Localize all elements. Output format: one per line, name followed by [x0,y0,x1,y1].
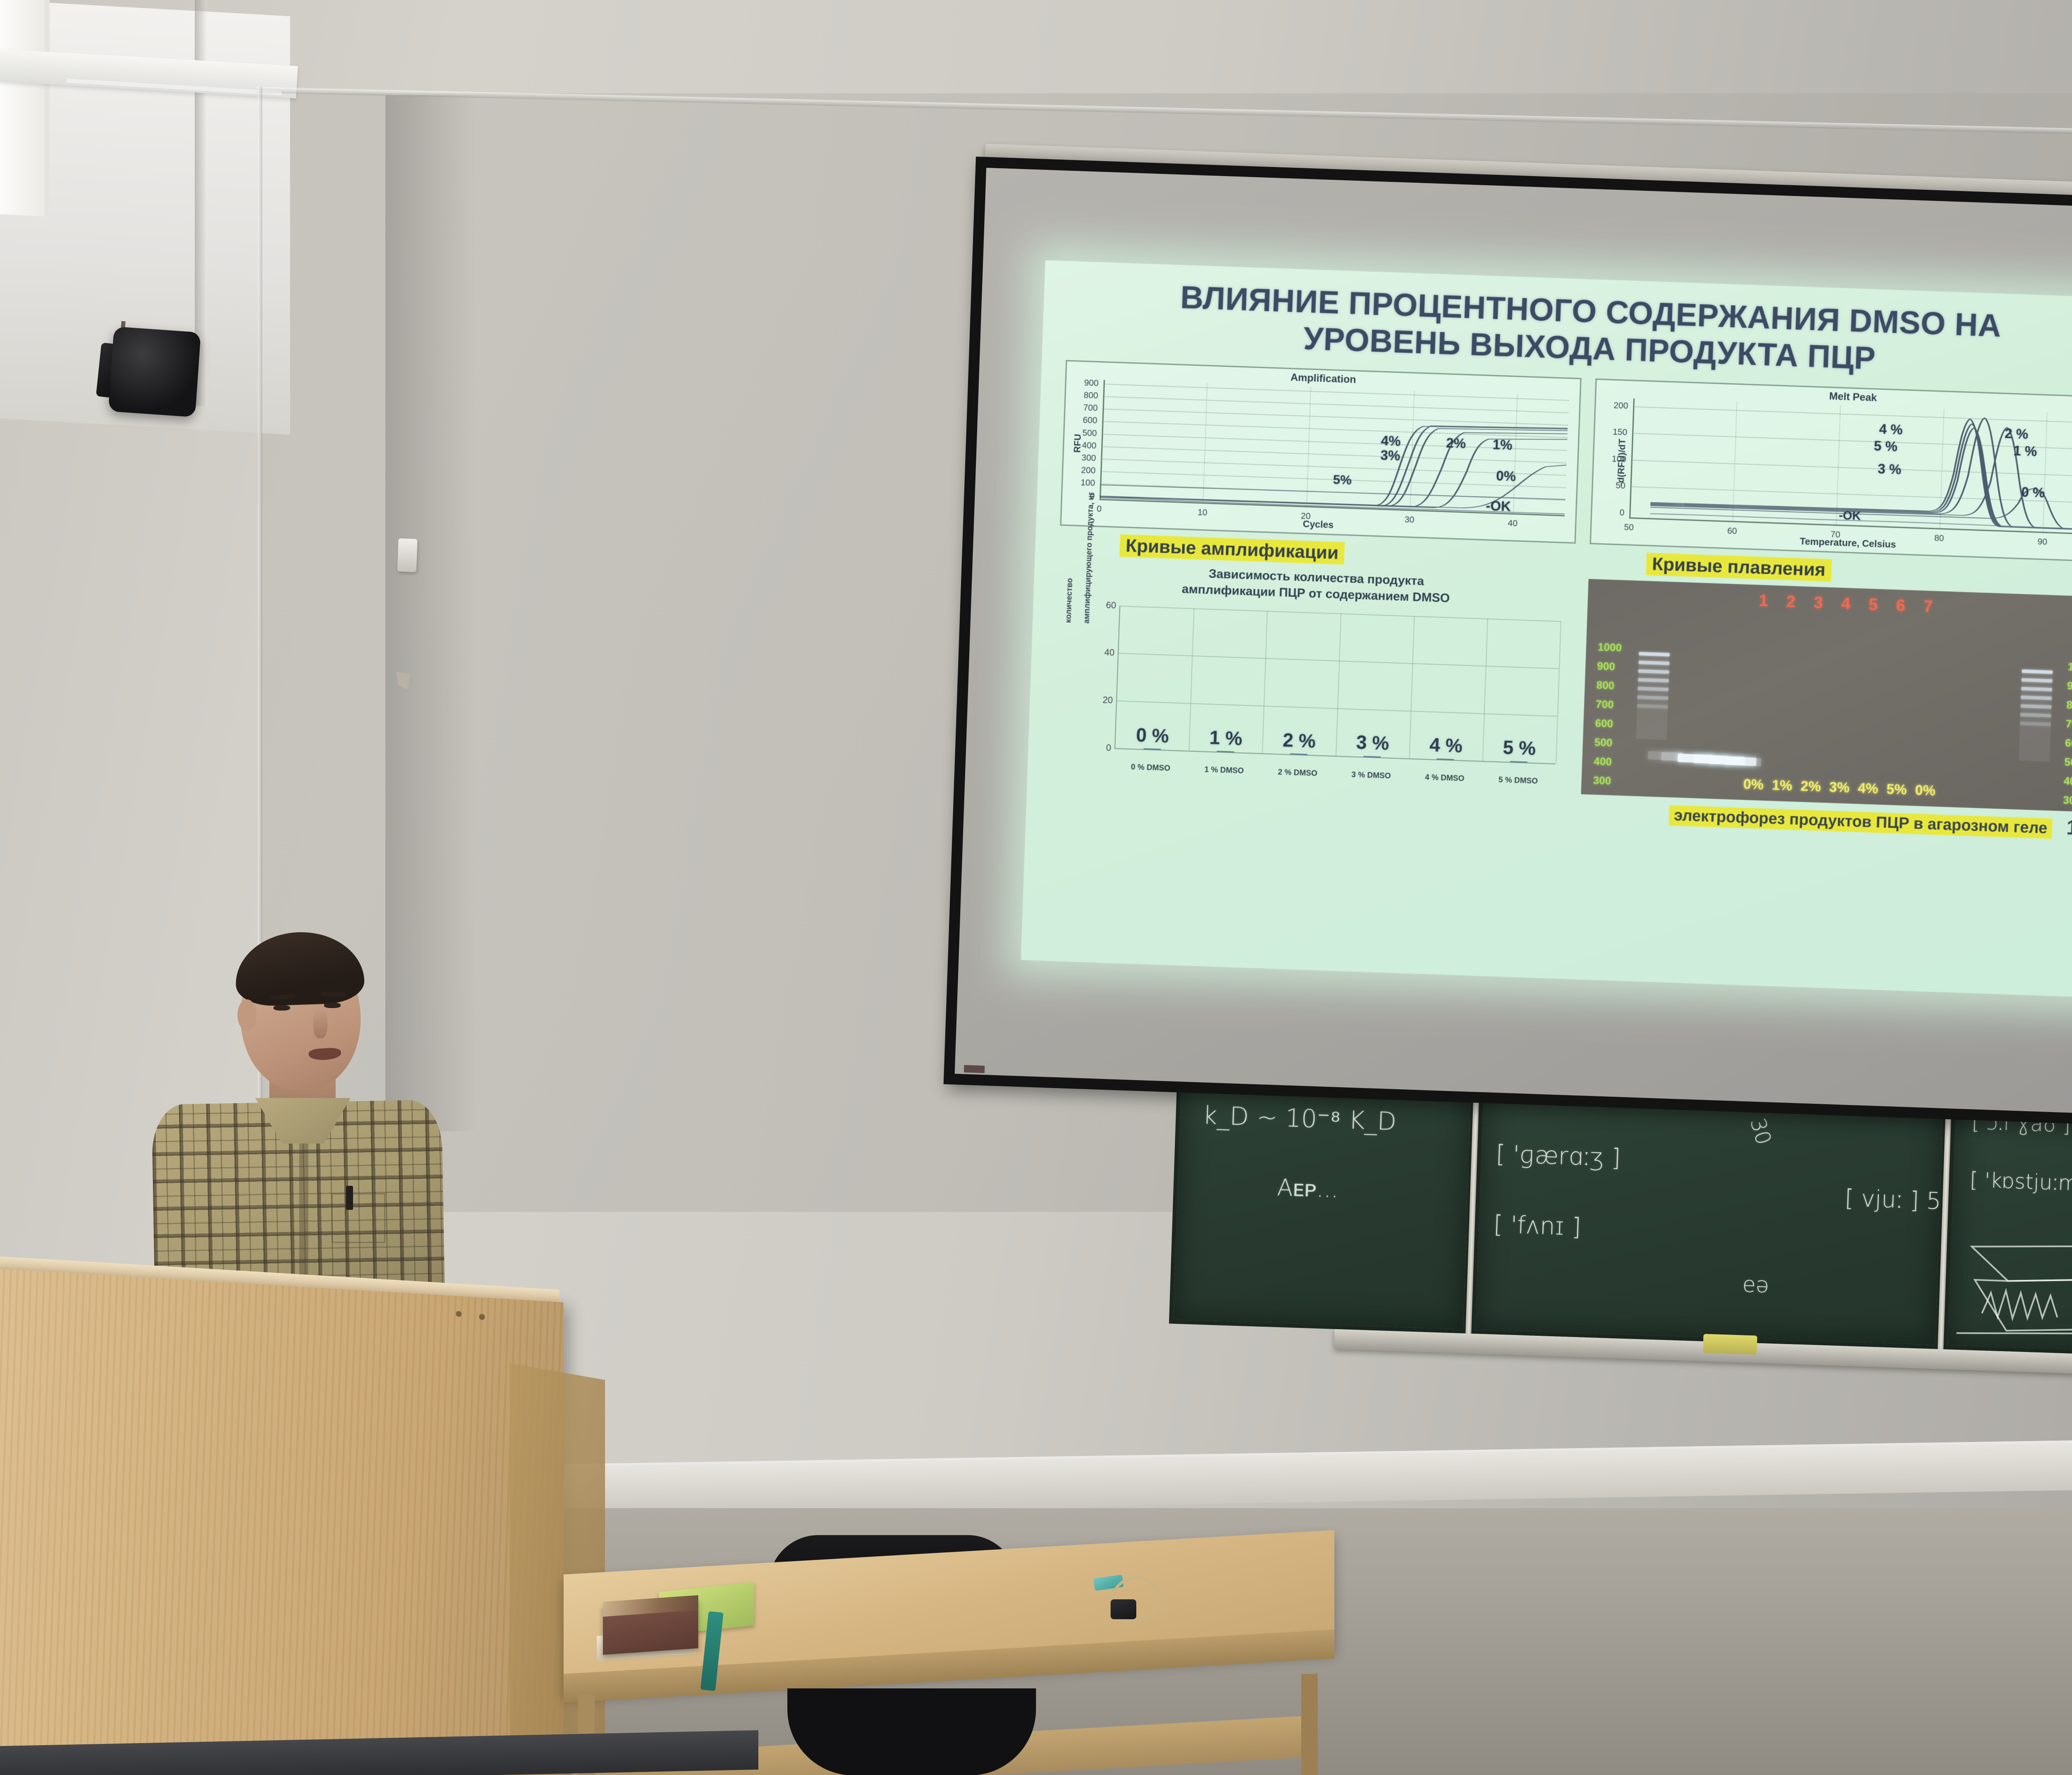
gel-lane-label: 0% [1743,776,1764,793]
projection-screen: ВЛИЯНИЕ ПРОЦЕНТНОГО СОДЕРЖАНИЯ DMSO НА У… [944,157,2072,1128]
bar-value-label: 2 % [1283,728,1316,752]
bar-category-label: 4 % DMSO [1408,772,1481,784]
bar-y-tick: 40 [1104,647,1114,658]
bar-slot: 5 % [1482,760,1556,763]
bar-y-tick: 60 [1106,600,1116,611]
curve-annotation: 4% [1381,433,1401,450]
bar-plot-area: 60 40 20 0 [1114,605,1560,764]
y-tick: 600 [1082,416,1097,426]
gel-lane-number: 1 [1759,591,1769,610]
curve-annotation: 0% [1496,468,1516,485]
front-table-leg [1301,1674,1318,1775]
presenter-eye [274,1005,290,1011]
gel-lane-number: 5 [1868,595,1878,614]
melt-annotation: 5 % [1874,438,1898,455]
ladder-value: 800 [2066,699,2072,711]
table-row [1510,761,1527,762]
y-tick: 50 [1615,481,1625,491]
melt-annotation: 4 % [1879,421,1903,438]
melt-peak-plot-area: 200 150 100 50 0 50 60 70 80 90 [1629,398,2072,534]
curve-annotation: -OK [1486,498,1511,514]
y-tick: 200 [1613,401,1628,411]
lecture-room-scene: Kᴅ ~ 10⁻¹⁰ k_D ~ 10⁻⁸ K_D Aᴇᴘ... [ 'ɑːtɪ… [0,0,2072,1775]
bar-slot: 0 % [1115,747,1188,750]
presenter-eye [324,1003,341,1008]
chalk-line: [ vjuː ] 5' [1844,1184,1948,1215]
melt-annotation-nok: -OK [1839,509,1861,523]
bar-category-label: 5 % DMSO [1481,775,1555,786]
y-tick: 500 [1082,428,1097,438]
chalk-line: 30 [1745,1115,1776,1147]
curve-annotation: 1% [1492,437,1513,453]
melt-annotation: 3 % [1878,461,1902,478]
caption-melt: Кривые плавления [1646,553,1832,582]
presenter-ear [237,999,257,1031]
table-row [1290,753,1307,754]
curve-annotation-5pct: 5% [1333,472,1352,488]
chalk-sketch-diagram [1956,1209,2072,1359]
wall-fixture [397,538,418,572]
ladder-value: 1000 [2067,661,2072,672]
bar-value-label: 3 % [1356,731,1389,754]
melt-annotation: 1 % [2013,443,2037,459]
bar-slot: 4 % [1409,757,1482,761]
gel-lane-label: 3% [1829,779,1849,796]
chalk-line: eə [1742,1272,1769,1298]
chalk-line: [ 'ɡærɑːʒ ] [1496,1139,1621,1172]
window-icon [0,0,50,217]
y-tick: 800 [1084,390,1099,401]
bar-chart-y-label-1: количество [1064,578,1075,623]
presenter-brow [321,991,346,997]
podium-hole [456,1311,462,1317]
gel-marker-lane-right [2019,669,2053,761]
y-tick: 200 [1081,465,1096,476]
gel-band [1743,757,1762,767]
y-tick: 0 [1619,508,1625,518]
bar-value-label: 5 % [1503,736,1536,760]
podium-wood-grain [0,1268,564,1775]
ladder-value: 900 [1597,660,1622,672]
bar-slot: 3 % [1336,755,1409,758]
melt-peak-chart: Melt Peak -d(RFU)/dT 200 150 100 50 0 50 [1590,378,2072,562]
gel-image: 1 2 3 4 5 6 7 1000 90 [1581,579,2072,812]
bar-value-label: 4 % [1429,733,1463,757]
presentation-slide: ВЛИЯНИЕ ПРОЦЕНТНОГО СОДЕРЖАНИЯ DMSO НА У… [1021,260,2072,998]
amplification-plot-area: 900 800 700 600 500 400 300 200 100 0 0 [1099,380,1569,516]
bar-value-label: 0 % [1136,724,1169,747]
melt-annotation: 0 % [2021,484,2045,501]
bar-series: 0 % 1 % 2 % [1115,605,1560,763]
ladder-value: 800 [1596,680,1621,691]
y-tick: 100 [1080,478,1095,488]
table-row [1363,756,1381,757]
pen-icon [346,1186,353,1210]
bar-category-label: 2 % DMSO [1261,767,1334,779]
gel-marker-lane-left [1636,652,1670,740]
gel-lane-numbers: 1 2 3 4 5 6 7 [1588,585,2072,622]
gel-lane-number: 6 [1896,596,1906,615]
gel-lane-number: 2 [1786,592,1796,612]
key-fob [1111,1599,1136,1619]
y-tick: 900 [1084,378,1099,388]
ladder-value: 1000 [1598,641,1622,653]
ladder-value: 400 [1594,756,1618,767]
ladder-value: 900 [2067,680,2072,692]
presenter-nose [313,1009,327,1038]
lower-row: Зависимость количества продукта амплифик… [1041,560,2072,812]
gel-electrophoresis-panel: 1 2 3 4 5 6 7 1000 90 [1581,579,2072,812]
screen-matte: ВЛИЯНИЕ ПРОЦЕНТНОГО СОДЕРЖАНИЯ DMSO НА У… [955,168,2072,1117]
ladder-value: 500 [2064,756,2072,768]
bar-y-tick: 20 [1102,695,1113,706]
chalk-line: Aᴇᴘ... [1277,1174,1339,1203]
ladder-value: 400 [2064,775,2072,787]
table-row [1217,751,1234,752]
podium [0,1268,564,1775]
melt-annotation: 2 % [2004,426,2028,442]
chalk-eraser-icon [1703,1334,1757,1354]
wall-speaker-icon [108,326,201,417]
screen-frame: ВЛИЯНИЕ ПРОЦЕНТНОГО СОДЕРЖАНИЯ DMSO НА У… [944,157,2072,1128]
gel-lane-label: 0% [1915,782,1936,799]
ladder-value: 700 [2066,718,2072,730]
bar-y-tick: 0 [1106,742,1111,753]
gel-lane-number: 4 [1841,594,1851,613]
bar-category-label: 3 % DMSO [1334,770,1408,781]
gel-lane-label: 2% [1800,778,1821,795]
bar-slot: 1 % [1188,750,1262,753]
amplification-chart: Amplification RFU 900 800 700 600 500 40… [1060,360,1581,543]
chalk-line: [ 'kɒstjuːm ] [1969,1168,2072,1196]
dmso-bar-chart: Зависимость количества продукта амплифик… [1051,560,1574,793]
chalk-line: k_D ~ 10⁻⁸ K_D [1202,1101,1397,1136]
gel-lane-label: 1% [1772,777,1792,794]
podium-hole [479,1314,485,1320]
gel-lane-number: 7 [1923,597,1933,616]
table-row [1437,758,1454,759]
ladder-value: 600 [2065,737,2072,749]
ladder-value: 700 [1595,699,1620,710]
ladder-value: 600 [1595,718,1619,729]
ladder-value: 500 [1594,737,1619,748]
caption-gel: электрофорез продуктов ПЦР в агарозном г… [1669,805,2053,839]
caption-amplification: Кривые амплификации [1120,534,1345,564]
presenter [137,924,452,1309]
chalk-line: [ 'fʌnɪ ] [1493,1210,1581,1241]
curve-annotation: 3% [1380,447,1401,464]
gel-lane-label: 5% [1886,781,1907,798]
presenter-shirt-pocket [332,1193,385,1243]
bar-category-label: 0 % DMSO [1113,762,1187,774]
bar-category-label: 1 % DMSO [1187,764,1261,776]
y-tick: 400 [1082,440,1097,451]
slide-number: 14 [2066,815,2072,840]
bar-slot: 2 % [1262,752,1336,756]
bar-value-label: 1 % [1209,726,1243,750]
chair-seat [787,1688,1036,1775]
table-row [1143,748,1161,750]
screen-brand-badge [964,1065,985,1073]
gel-lane-label: 4% [1857,780,1878,797]
y-tick: 700 [1083,403,1098,414]
gel-lane-number: 3 [1813,593,1823,612]
y-tick: 100 [1612,454,1627,464]
y-tick: 150 [1612,427,1627,438]
y-tick: 300 [1081,453,1096,463]
qpcr-charts-row: Amplification RFU 900 800 700 600 500 40… [1050,360,2072,563]
curve-annotation: 2% [1446,435,1466,452]
